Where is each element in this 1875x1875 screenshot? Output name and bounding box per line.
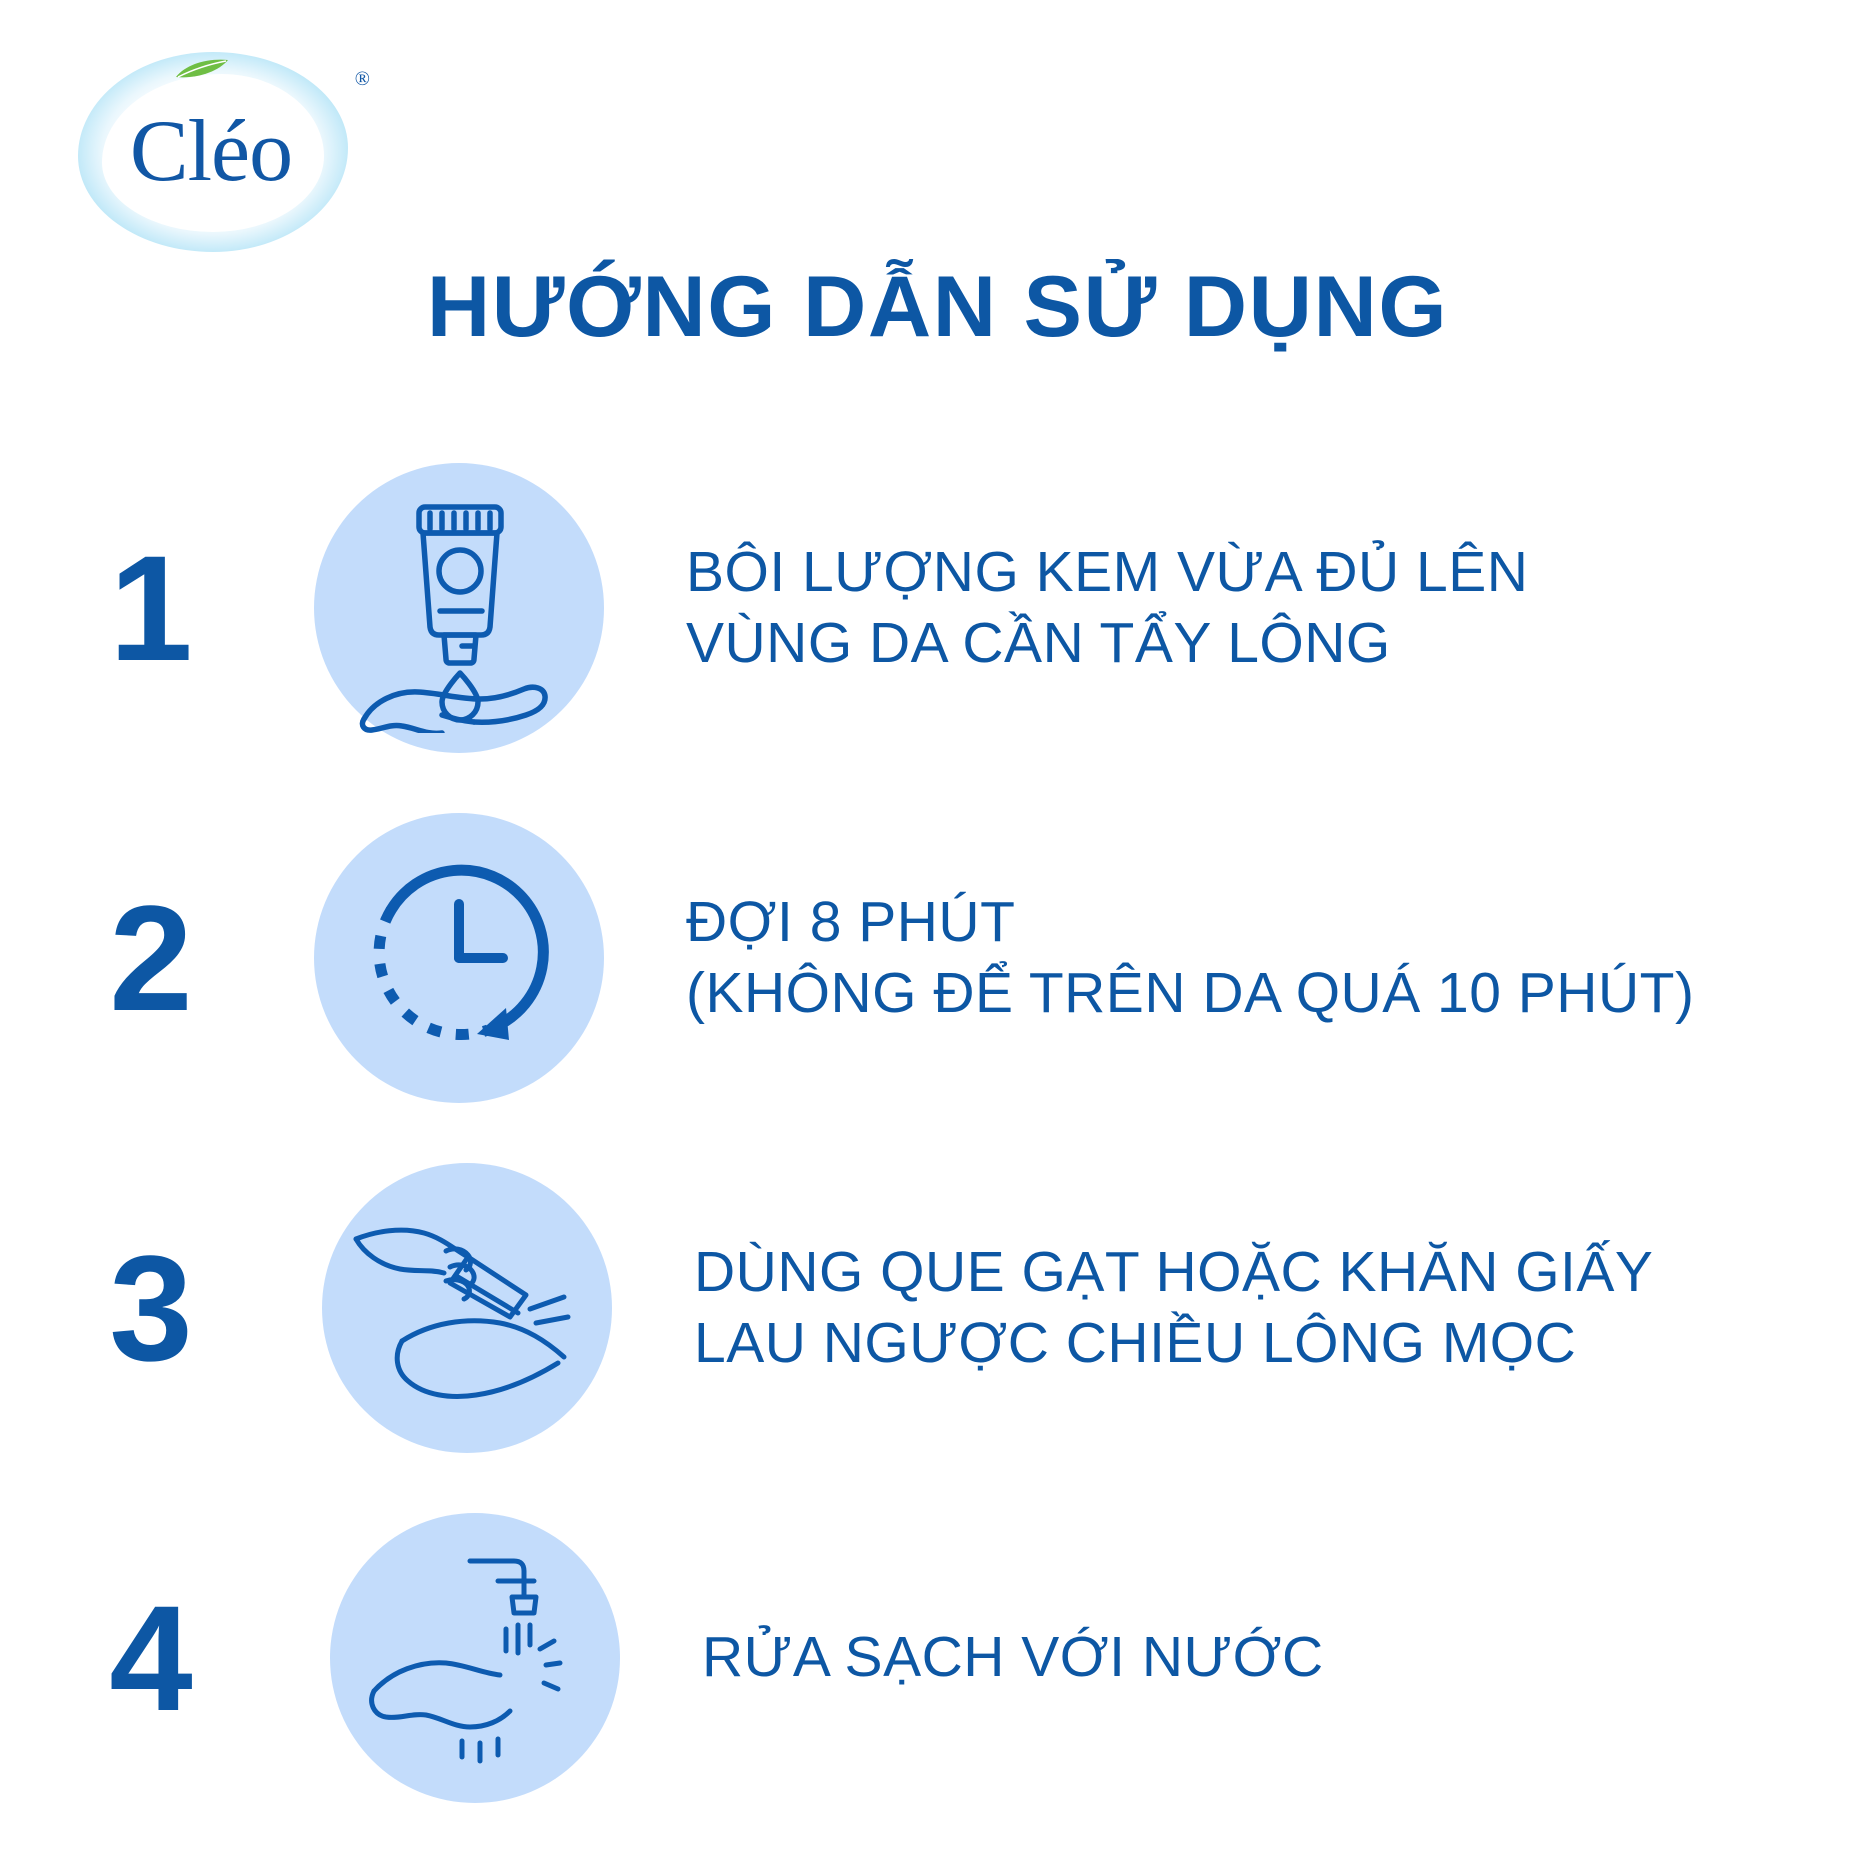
brand-logo: Cléo ® xyxy=(78,52,348,252)
instruction-poster: Cléo ® HƯỚNG DẪN SỬ DỤNG 1 xyxy=(0,0,1875,1875)
logo-text-group: Cléo ® xyxy=(78,52,348,252)
leaf-icon xyxy=(174,58,230,80)
step-number: 4 xyxy=(0,1583,300,1733)
step-description: DÙNG QUE GẠT HOẶC KHĂN GIẤY LAU NGƯỢC CH… xyxy=(612,1237,1875,1380)
clock-timer-icon xyxy=(314,813,604,1103)
spatula-scrape-leg-icon xyxy=(322,1163,612,1453)
steps-list: 1 xyxy=(0,438,1875,1828)
cream-tube-drop-hand-icon xyxy=(314,463,604,753)
step-number: 1 xyxy=(0,533,300,683)
page-title: HƯỚNG DẪN SỬ DỤNG xyxy=(0,258,1875,357)
step-description: ĐỢI 8 PHÚT (KHÔNG ĐỂ TRÊN DA QUÁ 10 PHÚT… xyxy=(604,887,1875,1030)
list-item: 4 xyxy=(0,1488,1875,1828)
step-description: BÔI LƯỢNG KEM VỪA ĐỦ LÊN VÙNG DA CẦN TẨY… xyxy=(604,537,1875,680)
list-item: 2 ĐỢI 8 PHÚT (KHÔNG ĐỂ TRÊN xyxy=(0,788,1875,1128)
logo-wordmark: Cléo xyxy=(130,108,296,196)
list-item: 3 xyxy=(0,1138,1875,1478)
step-description: RỬA SẠCH VỚI NƯỚC xyxy=(620,1622,1875,1693)
step-number: 3 xyxy=(0,1233,300,1383)
list-item: 1 xyxy=(0,438,1875,778)
step-number: 2 xyxy=(0,883,300,1033)
hand-wash-faucet-icon xyxy=(330,1513,620,1803)
registered-mark: ® xyxy=(355,68,370,91)
